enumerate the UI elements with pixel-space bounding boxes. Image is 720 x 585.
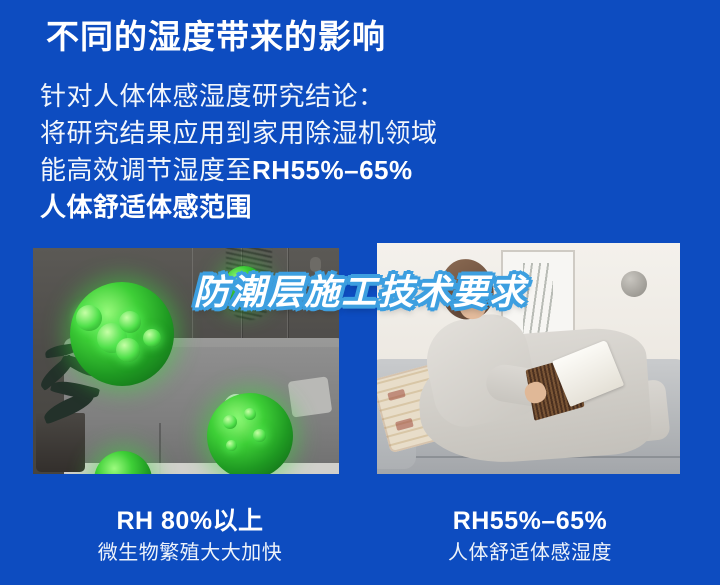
caption-right: RH55%–65% 人体舒适体感湿度 xyxy=(380,505,680,568)
cushion-motif xyxy=(395,418,414,431)
microbe-dot-icon xyxy=(226,440,237,451)
body-line-3-highlight: RH55%–65% xyxy=(252,155,413,185)
microbe-dot-icon xyxy=(223,415,237,429)
body-line-4: 人体舒适体感范围 xyxy=(40,189,520,226)
body-copy: 针对人体体感湿度研究结论： 将研究结果应用到家用除湿机领域 能高效调节湿度至RH… xyxy=(40,78,520,226)
caption-right-title: RH55%–65% xyxy=(380,505,680,538)
microbe-dot-icon xyxy=(119,311,141,333)
caption-left-title: RH 80%以上 xyxy=(40,505,340,538)
body-line-3-prefix: 能高效调节湿度至 xyxy=(40,155,252,185)
microbe-sphere-icon xyxy=(207,393,293,474)
caption-right-subtitle: 人体舒适体感湿度 xyxy=(380,538,680,568)
body-line-1: 针对人体体感湿度研究结论： xyxy=(40,78,520,115)
body-line-2: 将研究结果应用到家用除湿机领域 xyxy=(40,115,520,152)
wall-knob-icon xyxy=(310,257,321,272)
cushion-motif xyxy=(387,389,406,402)
overlay-banner-text: 防潮层施工技术要求 xyxy=(0,272,720,314)
pillow xyxy=(288,377,332,418)
plant-pot xyxy=(36,413,85,472)
microbe-dot-icon xyxy=(116,338,140,362)
humidity-infographic-poster: 不同的湿度带来的影响 针对人体体感湿度研究结论： 将研究结果应用到家用除湿机领域… xyxy=(0,0,720,585)
caption-left: RH 80%以上 微生物繁殖大大加快 xyxy=(40,505,340,568)
page-title: 不同的湿度带来的影响 xyxy=(46,16,386,58)
caption-left-subtitle: 微生物繁殖大大加快 xyxy=(40,538,340,568)
body-line-3: 能高效调节湿度至RH55%–65% xyxy=(40,152,520,189)
